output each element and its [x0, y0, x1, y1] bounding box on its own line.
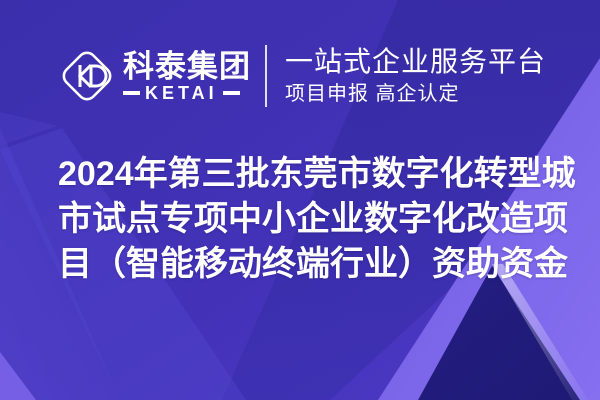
- promo-banner: 科泰集团 KETAI 一站式企业服务平台 项目申报 高企认定 2024年第三批东…: [0, 0, 600, 400]
- wordmark-rule-left: [123, 91, 140, 95]
- logo-svg: [58, 47, 116, 105]
- brand-name-en-row: KETAI: [123, 84, 251, 103]
- ketai-diamond-logo-icon: [58, 47, 116, 105]
- page-title-line-2: 市试点专项中小企业数字化改造项: [58, 197, 558, 242]
- logo-letter-d-bowl: [91, 66, 106, 86]
- page-title-line-3: 目（智能移动终端行业）资助资金: [58, 242, 558, 287]
- tagline-sub: 项目申报 高企认定: [285, 81, 546, 107]
- page-title-line-1: 2024年第三批东莞市数字化转型城: [58, 152, 558, 197]
- logo-letter-k-arms: [80, 65, 91, 87]
- brand-wordmark: 科泰集团 KETAI: [123, 46, 251, 106]
- brand-vertical-divider: [265, 45, 267, 107]
- brand-name-en: KETAI: [145, 84, 218, 103]
- brand-name-cn: 科泰集团: [123, 50, 251, 83]
- tagline-block: 一站式企业服务平台 项目申报 高企认定: [285, 44, 546, 108]
- wordmark-rule-right: [223, 91, 240, 95]
- brand-header: 科泰集团 KETAI 一站式企业服务平台 项目申报 高企认定: [0, 36, 600, 116]
- page-title: 2024年第三批东莞市数字化转型城 市试点专项中小企业数字化改造项 目（智能移动…: [58, 152, 558, 287]
- tagline-main: 一站式企业服务平台: [285, 45, 546, 79]
